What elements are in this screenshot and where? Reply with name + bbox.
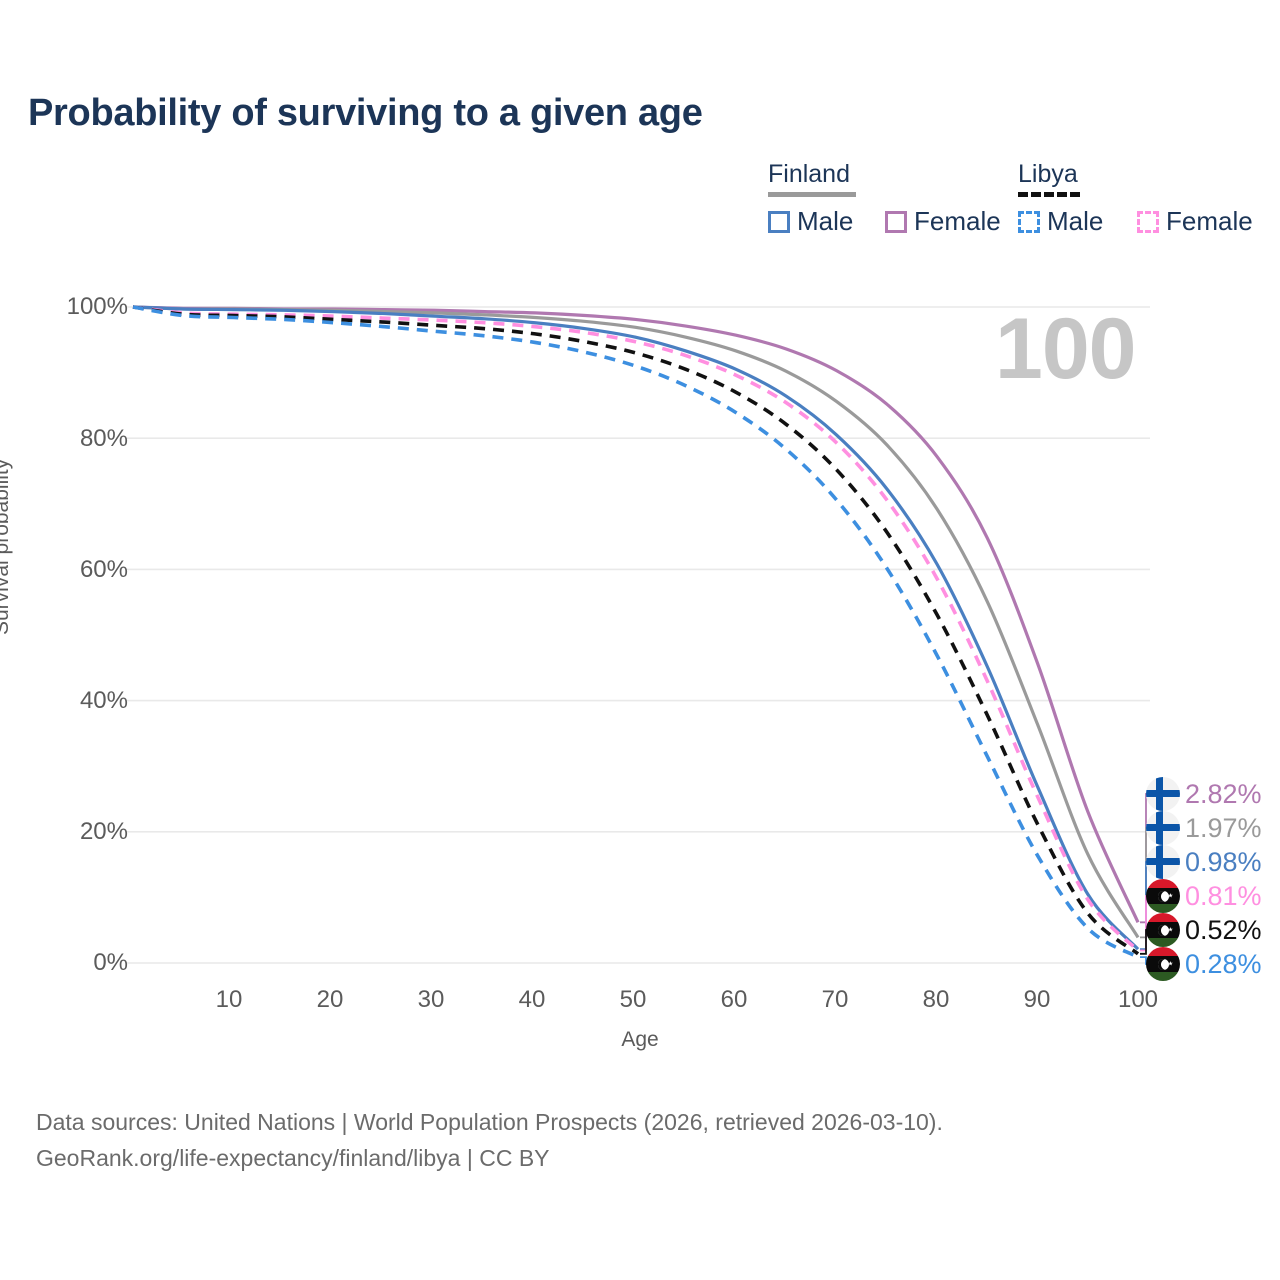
series-line [133,307,1138,922]
footer-data-sources: Data sources: United Nations | World Pop… [36,1105,943,1141]
series-line [133,307,1138,937]
end-label-libya-male[interactable]: 0.28% [1146,947,1262,981]
series-line [133,307,1138,949]
end-label-libya-female[interactable]: 0.81% [1146,879,1262,913]
end-label-value: 0.81% [1185,881,1262,912]
finland-flag-icon [1146,777,1180,811]
end-label-finland-female[interactable]: 2.82% [1146,777,1262,811]
end-label-value: 0.52% [1185,915,1262,946]
end-label-finland-male[interactable]: 0.98% [1146,845,1262,879]
footer-attribution: GeoRank.org/life-expectancy/finland/liby… [36,1141,943,1177]
end-label-libya-total[interactable]: 0.52% [1146,913,1262,947]
libya-flag-icon [1146,913,1180,947]
footer: Data sources: United Nations | World Pop… [36,1105,943,1176]
series-line [133,307,1138,954]
series-lines [133,307,1138,957]
finland-flag-icon [1146,811,1180,845]
series-line [133,307,1138,951]
libya-flag-icon [1146,879,1180,913]
end-label-value: 1.97% [1185,813,1262,844]
libya-flag-icon [1146,947,1180,981]
series-line [133,307,1138,957]
end-label-value: 0.28% [1185,949,1262,980]
end-label-value: 2.82% [1185,779,1262,810]
finland-flag-icon [1146,845,1180,879]
gridlines [127,307,1150,963]
chart-canvas [0,0,1280,1280]
end-label-finland-total[interactable]: 1.97% [1146,811,1262,845]
end-label-value: 0.98% [1185,847,1262,878]
